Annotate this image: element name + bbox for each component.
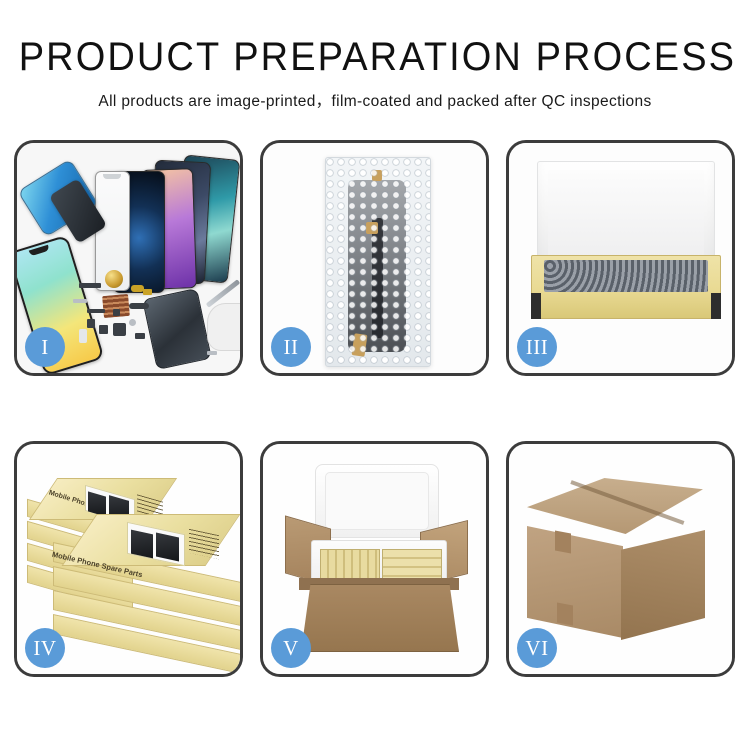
steps-grid: I II	[14, 140, 736, 680]
yellow-kraft-box	[531, 255, 721, 319]
bubble-wrap-bag	[325, 157, 431, 367]
step-panel-1[interactable]: I	[14, 140, 243, 376]
step-numeral: III	[526, 337, 548, 358]
step-panel-2[interactable]: II	[260, 140, 489, 376]
packed-items	[544, 260, 708, 292]
carton-tape-upper	[555, 530, 571, 553]
step-panel-6[interactable]: VI	[506, 441, 735, 677]
step-panel-5[interactable]: V	[260, 441, 489, 677]
spare-part-chip	[99, 325, 108, 334]
spare-part-chip	[113, 309, 120, 316]
spare-part-bracket	[73, 299, 87, 303]
header: PRODUCT PREPARATION PROCESS All products…	[0, 36, 750, 111]
carton-side-face	[621, 530, 705, 640]
spare-part-gold-clip	[143, 289, 152, 295]
step-badge-5: V	[271, 628, 311, 668]
step-badge-6: VI	[517, 628, 557, 668]
step-numeral: V	[283, 638, 299, 659]
spare-part-flex-cable	[129, 303, 149, 309]
page-subtitle: All products are image-printed，film-coat…	[0, 89, 750, 111]
carton-front-face	[527, 526, 623, 638]
carton-front	[301, 584, 459, 652]
spare-part-connector	[79, 329, 87, 343]
step-panel-4[interactable]: Mobile Phone Spare Parts Mobile Phone Sp…	[14, 441, 243, 677]
carton-tape-lower	[557, 602, 573, 625]
tape-strip	[372, 170, 382, 181]
step-badge-4: IV	[25, 628, 65, 668]
spare-part-screw	[207, 351, 217, 355]
spare-part-chip	[87, 319, 95, 328]
step-numeral: II	[284, 337, 299, 358]
wrapped-flex-cable	[372, 218, 383, 338]
tape-strip	[366, 222, 378, 234]
box-edge-left	[531, 293, 541, 319]
product-preparation-infographic: PRODUCT PREPARATION PROCESS All products…	[0, 0, 750, 750]
carton-top-face	[527, 478, 703, 534]
step-panel-3[interactable]: III	[506, 140, 735, 376]
tape-strip	[325, 157, 340, 180]
box-edge-right	[711, 293, 721, 319]
step-numeral: I	[41, 337, 49, 358]
box-window-screen	[131, 530, 153, 559]
box-window-screen	[156, 533, 179, 562]
gold-coil-part	[105, 270, 123, 288]
spare-part-screw	[129, 319, 136, 326]
step-badge-2: II	[271, 327, 311, 367]
step-numeral: IV	[33, 638, 56, 659]
spare-part-chip	[135, 333, 145, 339]
step-badge-3: III	[517, 327, 557, 367]
step-badge-1: I	[25, 327, 65, 367]
foam-box-lid	[315, 464, 439, 538]
tape-strip	[352, 333, 368, 357]
technician-hand	[207, 303, 240, 351]
page-title: PRODUCT PREPARATION PROCESS	[19, 36, 732, 78]
phone-back-housing	[142, 288, 212, 370]
spare-part-camera	[113, 323, 126, 336]
spare-part-bar	[87, 309, 105, 313]
step-numeral: VI	[525, 638, 548, 659]
spare-part-bar	[79, 283, 101, 288]
